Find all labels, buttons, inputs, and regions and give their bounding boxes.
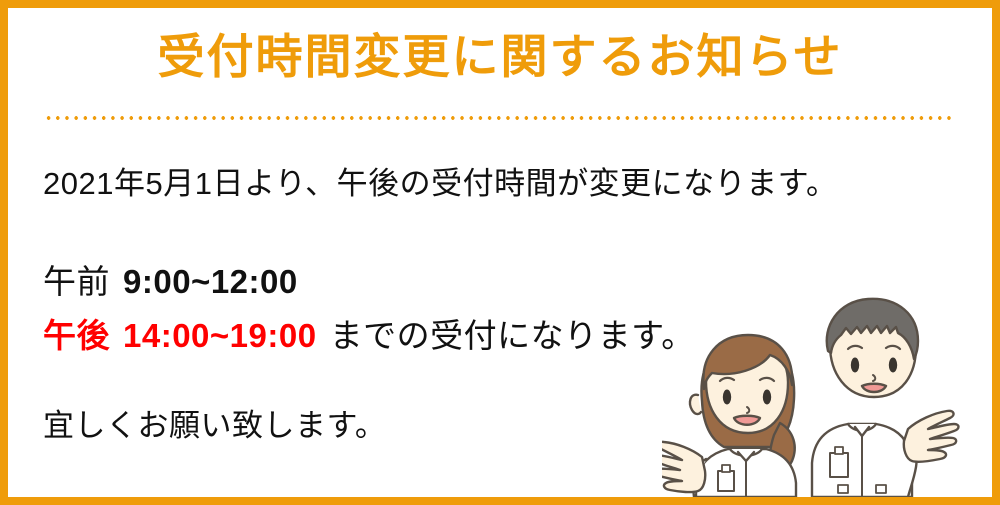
two-clinic-staff-illustration bbox=[662, 297, 992, 497]
notice-body: 2021年5月1日より、午後の受付時間が変更になります。 午前9:00~12:0… bbox=[43, 162, 743, 448]
spacer-before-closing bbox=[43, 360, 743, 404]
intro-line: 2021年5月1日より、午後の受付時間が変更になります。 bbox=[43, 162, 743, 206]
afternoon-hours-line: 午後14:00~19:00までの受付になります。 bbox=[43, 312, 743, 360]
dotted-divider bbox=[44, 116, 956, 120]
notice-title: 受付時間変更に関するお知らせ bbox=[0, 30, 1000, 84]
frame-border-top bbox=[0, 0, 1000, 8]
spacer-before-hours bbox=[43, 206, 743, 258]
afternoon-label: 午後 bbox=[43, 317, 110, 354]
afternoon-time: 14:00~19:00 bbox=[123, 317, 317, 354]
frame-border-bottom bbox=[0, 497, 1000, 505]
notice-card: 受付時間変更に関するお知らせ 2021年5月1日より、午後の受付時間が変更になり… bbox=[0, 0, 1000, 505]
closing-line: 宜しくお願い致します。 bbox=[43, 404, 743, 448]
morning-time: 9:00~12:00 bbox=[123, 263, 298, 300]
afternoon-suffix: までの受付になります。 bbox=[330, 317, 695, 354]
morning-label: 午前 bbox=[43, 263, 110, 300]
morning-hours-line: 午前9:00~12:00 bbox=[43, 258, 743, 306]
